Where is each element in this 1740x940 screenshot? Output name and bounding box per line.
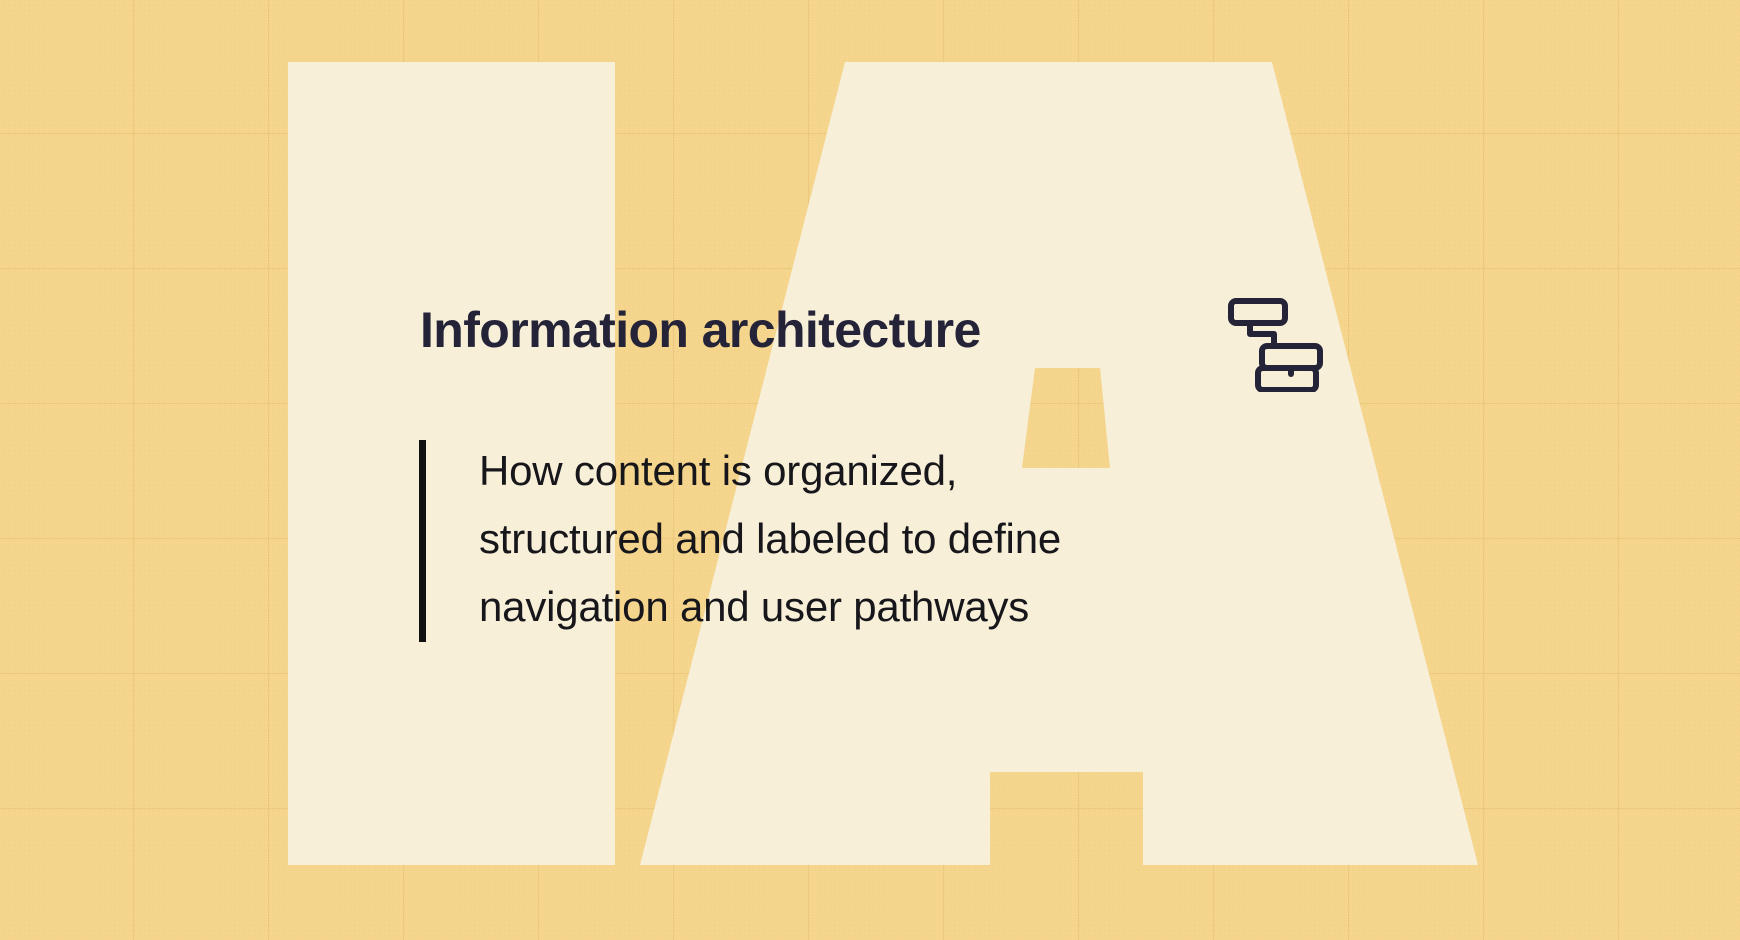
page-title: Information architecture — [420, 303, 981, 358]
description-line-3: navigation and user pathways — [479, 573, 1299, 641]
sitemap-icon-glyph — [1228, 298, 1328, 392]
description-line-1: How content is organized, — [479, 437, 1299, 505]
information-architecture-card: Information architecture How content is … — [0, 0, 1740, 940]
card-content: Information architecture How content is … — [0, 0, 1740, 940]
description-text: How content is organized, structured and… — [479, 437, 1299, 641]
accent-bar — [419, 440, 426, 642]
sitemap-icon — [1228, 298, 1328, 392]
description-line-2: structured and labeled to define — [479, 505, 1299, 573]
